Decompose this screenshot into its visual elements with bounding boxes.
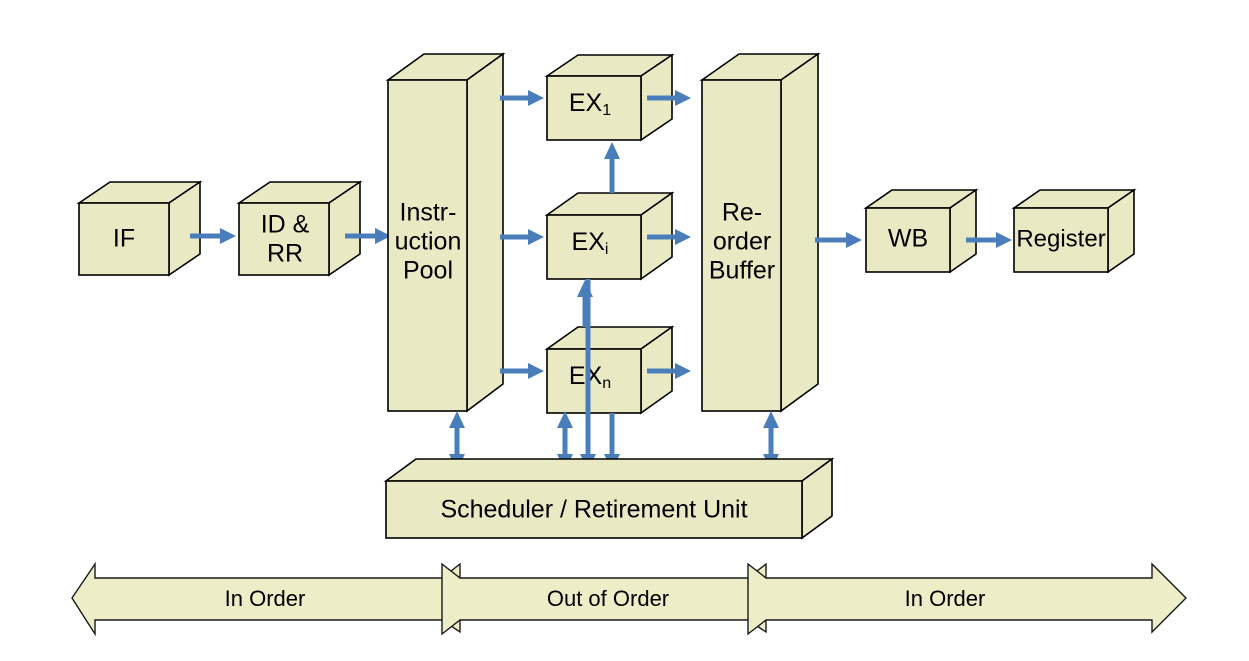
id-rr-label-line2: RR <box>267 240 303 268</box>
stage-scheduler-box[interactable]: Scheduler / Retirement Unit <box>386 459 832 538</box>
pipeline-diagram: IF ID & RR Instr- uction Pool <box>0 0 1249 661</box>
rob-label-line1: Re- <box>722 199 762 227</box>
ex1-label-base: EX <box>569 89 603 117</box>
stage-wb-box[interactable]: WB <box>866 190 976 272</box>
arrow-exn-up-to-exi <box>577 280 593 327</box>
ex1-label-sub: 1 <box>602 102 611 119</box>
exi-label-base: EX <box>572 228 606 256</box>
arrow-pool-to-exi <box>500 229 544 245</box>
band-in-order-back-label: In Order <box>905 586 986 611</box>
pool-label-line1: Instr- <box>400 199 457 227</box>
scheduler-label: Scheduler / Retirement Unit <box>440 496 747 524</box>
stage-id-rr-box[interactable]: ID & RR <box>239 182 360 275</box>
if-label: IF <box>113 225 135 253</box>
arrow-rob-to-wb <box>815 232 862 248</box>
pool-label-line3: Pool <box>403 257 453 285</box>
arrow-pool-to-exn <box>500 363 544 379</box>
diagram-canvas: IF ID & RR Instr- uction Pool <box>0 0 1249 661</box>
stage-if-box[interactable]: IF <box>79 182 200 275</box>
rob-box-side <box>781 54 818 411</box>
band-in-order-back: In Order <box>748 564 1186 634</box>
arrow-pool-to-ex1 <box>500 90 544 106</box>
arrow-exi-up-to-ex1 <box>604 142 620 193</box>
band-out-of-order-label: Out of Order <box>547 586 669 611</box>
band-in-order-front: In Order <box>72 564 460 634</box>
rob-label-line2: order <box>713 228 771 256</box>
band-in-order-front-label: In Order <box>225 586 306 611</box>
id-rr-label-line1: ID & <box>261 211 310 239</box>
exn-label-sub: n <box>602 375 611 392</box>
stage-instruction-pool-box[interactable]: Instr- uction Pool <box>388 54 503 411</box>
rob-label-line3: Buffer <box>709 257 775 285</box>
exi-label-sub: i <box>605 241 609 258</box>
register-label: Register <box>1016 225 1105 252</box>
wb-label: WB <box>888 225 928 253</box>
scheduler-box-top <box>386 459 832 481</box>
pool-label-line2: uction <box>395 228 462 256</box>
pool-box-side <box>467 54 503 411</box>
stage-reorder-buffer-box[interactable]: Re- order Buffer <box>702 54 818 411</box>
exi-label: EXi <box>572 228 609 259</box>
stage-register-box[interactable]: Register <box>1014 190 1134 272</box>
band-out-of-order: Out of Order <box>442 564 766 634</box>
